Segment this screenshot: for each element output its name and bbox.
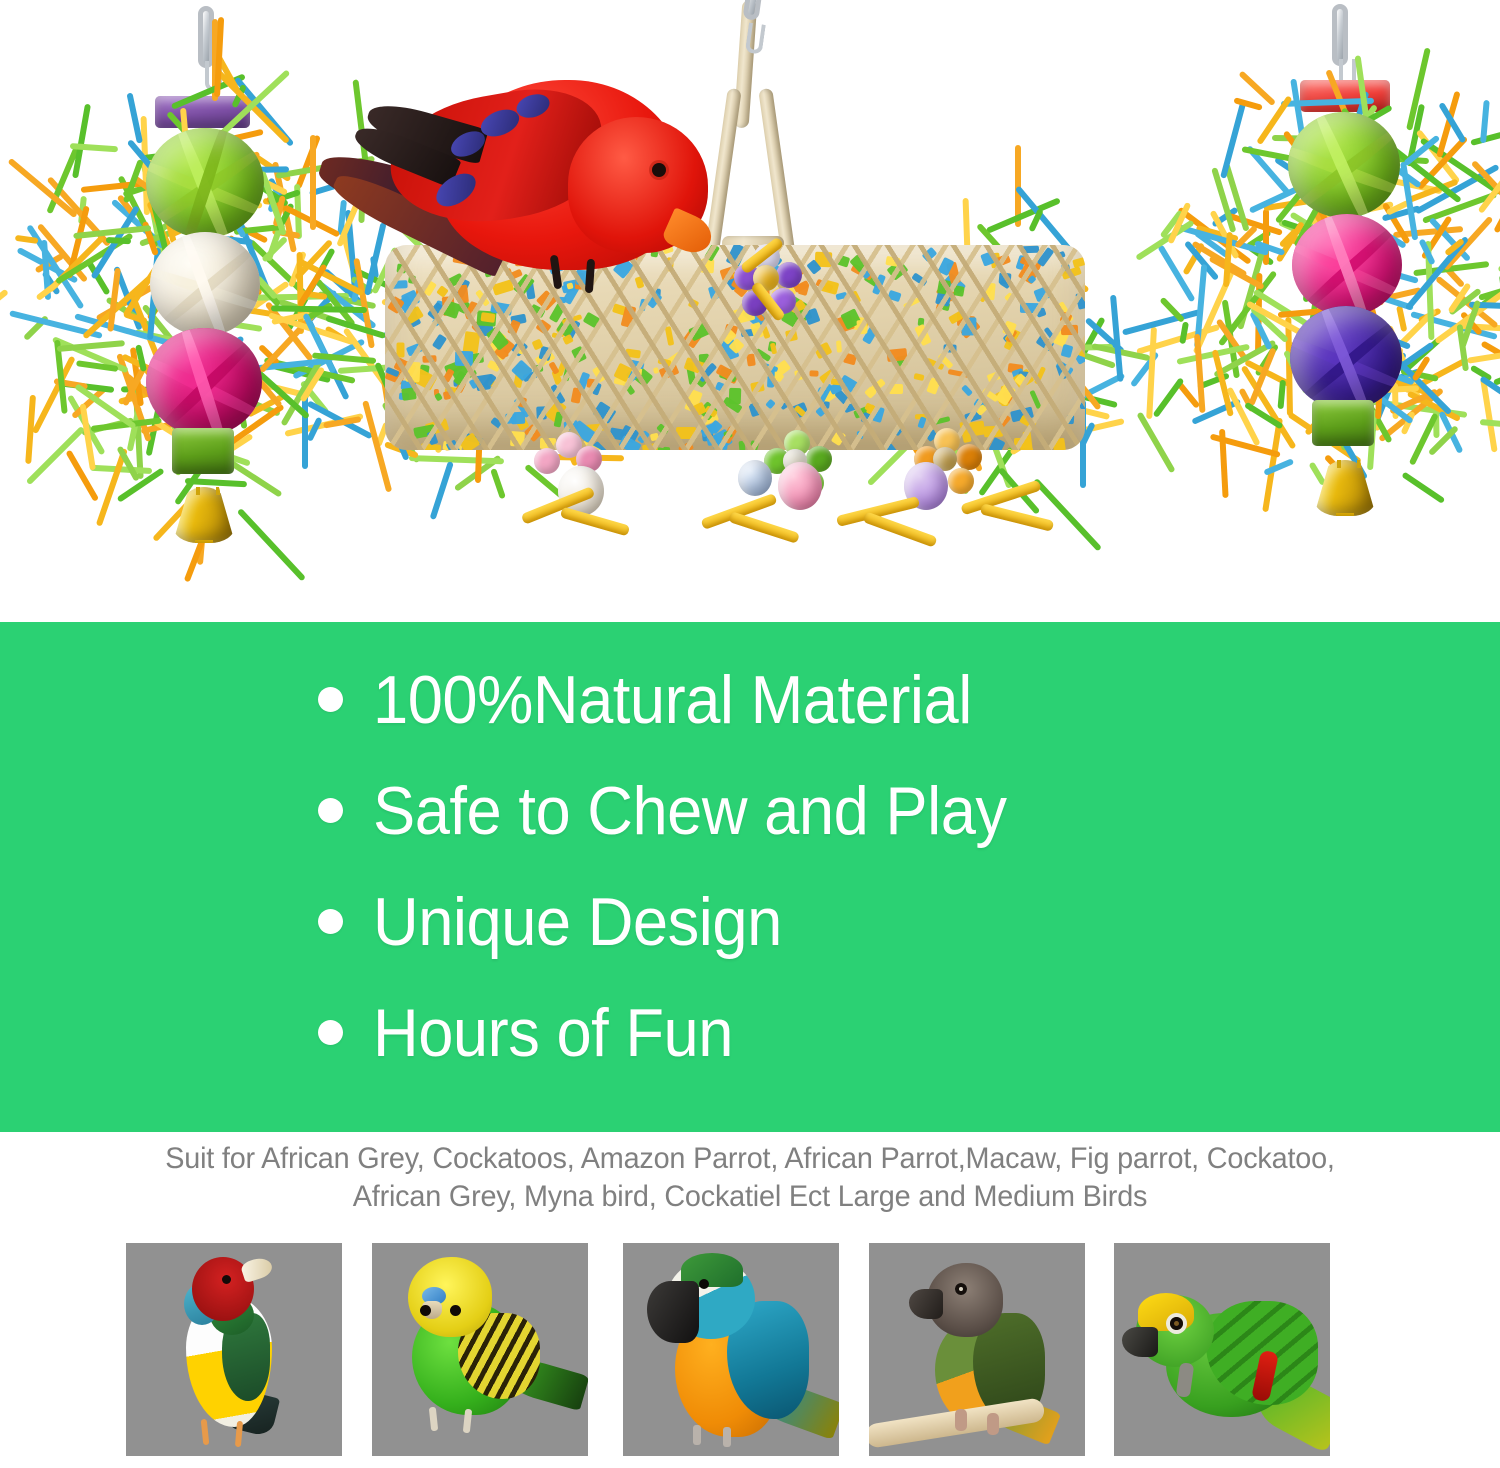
bird-thumbnail-strip — [126, 1243, 1386, 1457]
red-lory-parrot — [330, 55, 750, 355]
feature-bullet-label: Unique Design — [373, 888, 782, 956]
compatible-birds-caption: Suit for African Grey, Cockatoos, Amazon… — [0, 1140, 1500, 1216]
caption-line-1: Suit for African Grey, Cockatoos, Amazon… — [30, 1140, 1470, 1178]
feature-bullet-item: Unique Design — [0, 866, 1500, 977]
white-rattan-ball — [150, 232, 260, 336]
feature-bullet-label: Hours of Fun — [373, 999, 733, 1067]
pink-round-bead — [778, 462, 822, 510]
yellow-straw-knot-6 — [862, 511, 937, 547]
feature-bullet-item: Safe to Chew and Play — [0, 755, 1500, 866]
metal-clip-right-icon — [1332, 4, 1348, 66]
feature-bullet-label: Safe to Chew and Play — [373, 777, 1007, 845]
thumbnail-budgerigar — [372, 1243, 588, 1456]
thumbnail-amazon-parrot — [1114, 1243, 1330, 1456]
yellow-straw-knot-4 — [728, 511, 800, 544]
blue-round-bead — [738, 460, 772, 496]
purple-rattan-ball — [1290, 306, 1402, 410]
yellow-straw-knot-2 — [560, 507, 630, 537]
feature-bullet-list: 100%Natural Material Safe to Chew and Pl… — [0, 622, 1500, 1132]
feature-bullet-label: 100%Natural Material — [373, 666, 972, 734]
magenta-rattan-ball — [146, 328, 262, 436]
pink-rattan-ball — [1292, 214, 1402, 316]
feature-bullet-item: 100%Natural Material — [0, 644, 1500, 755]
thumbnail-gouldian-finch — [126, 1243, 342, 1456]
thumbnail-senegal-parrot — [869, 1243, 1085, 1456]
feature-highlight-band: 100%Natural Material Safe to Chew and Pl… — [0, 622, 1500, 1132]
green-rattan-ball — [146, 128, 264, 238]
hero-product-photo — [0, 0, 1500, 622]
metal-clip-center-icon — [742, 0, 765, 21]
bullet-dot-icon — [318, 909, 343, 934]
jute-rope-loop-right — [758, 88, 796, 258]
product-infographic: 100%Natural Material Safe to Chew and Pl… — [0, 0, 1500, 1468]
green-rattan-ball-right — [1288, 112, 1400, 218]
green-wood-block — [172, 428, 234, 474]
green-wood-block-right — [1312, 400, 1374, 446]
bullet-dot-icon — [318, 687, 343, 712]
yellow-straw-knot-8 — [980, 503, 1054, 532]
thumbnail-blue-and-gold-macaw — [623, 1243, 839, 1456]
caption-line-2: African Grey, Myna bird, Cockatiel Ect L… — [30, 1178, 1470, 1216]
bullet-dot-icon — [318, 1020, 343, 1045]
feature-bullet-item: Hours of Fun — [0, 977, 1500, 1088]
bullet-dot-icon — [318, 798, 343, 823]
